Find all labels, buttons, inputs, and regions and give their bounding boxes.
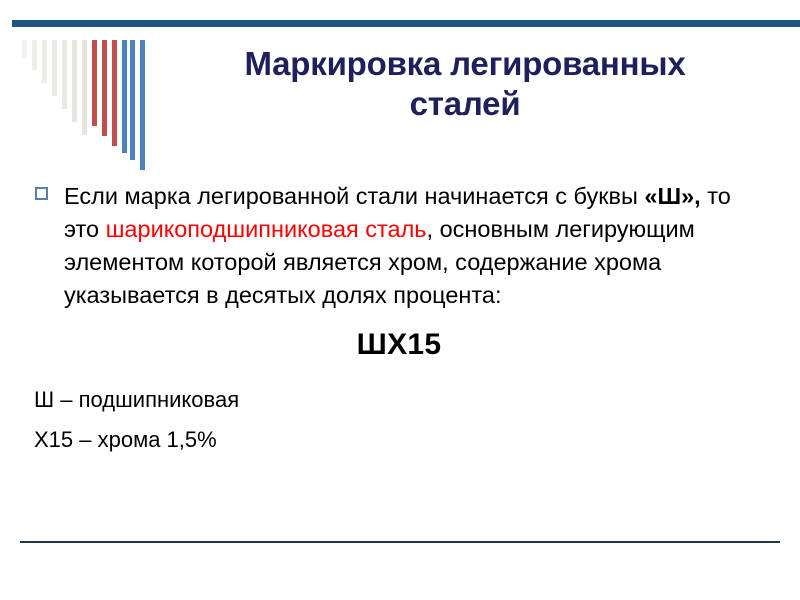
motif-bar-0 <box>22 40 27 58</box>
motif-bar-12 <box>140 40 145 170</box>
decorative-bar-chart-motif <box>22 40 142 170</box>
page-title-line-2: сталей <box>410 85 521 122</box>
motif-bar-8 <box>102 40 107 136</box>
legend-line-sh: Ш – подшипниковая <box>34 380 764 421</box>
steel-grade-formula: ШХ15 <box>34 328 764 362</box>
motif-bar-9 <box>112 40 117 146</box>
hollow-square-bullet-icon <box>35 187 48 200</box>
formula-legend: Ш – подшипниковая Х15 – хрома 1,5% <box>34 380 764 461</box>
motif-bar-11 <box>130 40 135 160</box>
bullet-list-item: Если марка легированной стали начинается… <box>34 180 764 312</box>
page-title-line-1: Маркировка легированных <box>244 45 685 82</box>
motif-bar-5 <box>72 40 77 122</box>
slide: Маркировка легированных сталей Если марк… <box>0 0 800 600</box>
bullet-text-segment-3: шарикоподшипниковая сталь <box>106 216 427 242</box>
motif-bar-7 <box>92 40 97 126</box>
bullet-text-segment-0: Если марка легированной стали начинается… <box>64 183 644 209</box>
motif-bar-6 <box>82 40 87 135</box>
bullet-item-text: Если марка легированной стали начинается… <box>64 180 764 312</box>
motif-bar-4 <box>62 40 67 109</box>
slide-body: Если марка легированной стали начинается… <box>34 180 764 461</box>
motif-bar-1 <box>32 40 37 70</box>
top-divider-bar <box>12 20 800 27</box>
legend-line-h15: Х15 – хрома 1,5% <box>34 420 764 461</box>
motif-bar-3 <box>52 40 57 96</box>
motif-bar-10 <box>122 40 127 153</box>
bottom-divider-rule <box>20 541 780 543</box>
motif-bar-2 <box>42 40 47 83</box>
bullet-text-segment-1: «Ш», <box>644 183 700 209</box>
page-title: Маркировка легированных сталей <box>150 44 780 125</box>
